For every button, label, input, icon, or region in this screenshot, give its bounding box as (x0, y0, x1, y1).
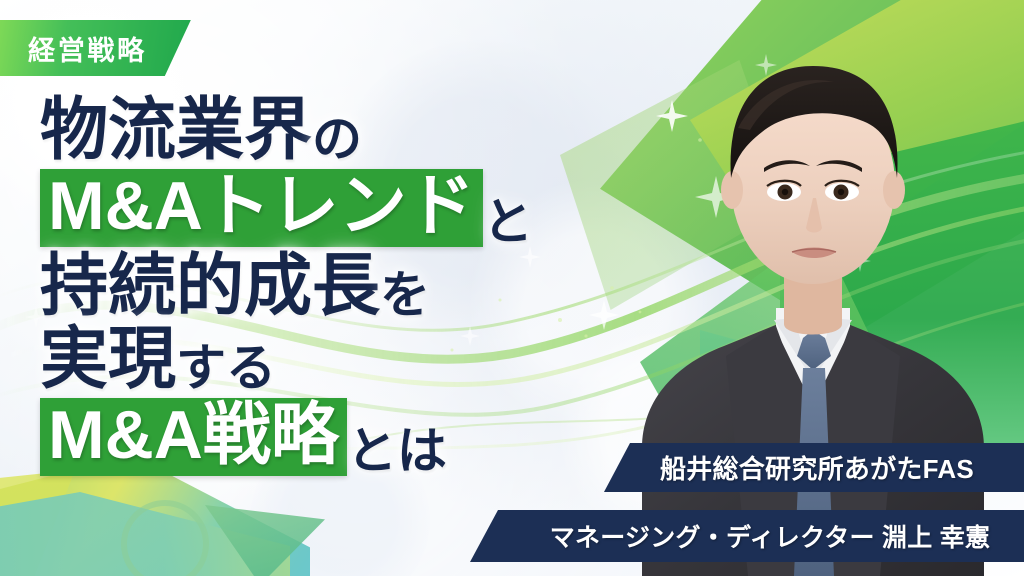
headline-segment-highlighted: M&A戦略 (40, 398, 347, 476)
headline-segment: と (483, 197, 533, 247)
speaker-organization-bar: 船井総合研究所あがたFAS (604, 443, 1024, 492)
headline-segment: の (312, 114, 362, 164)
headline-segment-highlighted: M&Aトレンド (40, 169, 483, 247)
headline-segment: 持続的成長 (40, 252, 380, 320)
seminar-title-slide: 経営戦略 物流業界 の M&Aトレンド と 持続的成長 を 実現 する M&A戦… (0, 0, 1024, 576)
headline-line: 物流業界 の (40, 96, 640, 164)
speaker-name-bar: マネージング・ディレクター 淵上 幸憲 (470, 510, 1024, 562)
headline-segment: を (380, 270, 430, 320)
headline-segment: する (176, 343, 276, 393)
category-badge-label: 経営戦略 (28, 29, 147, 68)
headline-segment: 実現 (40, 325, 176, 393)
headline-block: 物流業界 の M&Aトレンド と 持続的成長 を 実現 する M&A戦略 とは (40, 96, 640, 481)
speaker-name-label: マネージング・ディレクター 淵上 幸憲 (528, 518, 990, 554)
headline-line: M&A戦略 とは (40, 398, 640, 476)
headline-line: 持続的成長 を (40, 252, 640, 320)
category-badge: 経営戦略 (0, 20, 191, 76)
headline-line: 実現 する (40, 325, 640, 393)
headline-segment: とは (347, 426, 447, 476)
headline-line: M&Aトレンド と (40, 169, 640, 247)
speaker-organization-label: 船井総合研究所あがたFAS (660, 449, 988, 486)
headline-segment: 物流業界 (40, 96, 312, 164)
